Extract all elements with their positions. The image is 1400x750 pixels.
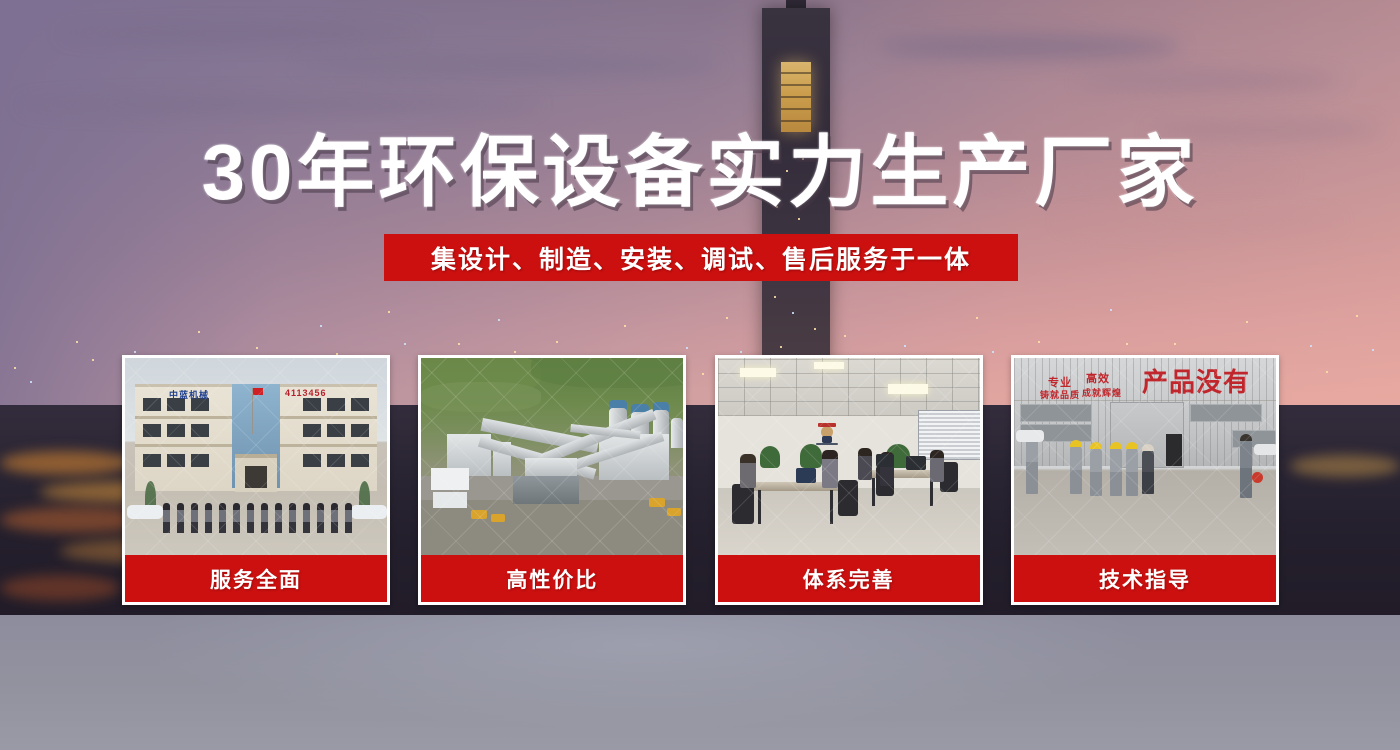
city-light-glow [1290, 455, 1400, 477]
tower-crown-light [781, 62, 811, 132]
feature-card[interactable]: 产品没有 专业 高效 铸就品质 成就辉煌 [1011, 355, 1279, 605]
city-light-glow [0, 575, 120, 601]
feature-card[interactable]: 高性价比 [418, 355, 686, 605]
subtitle-text: 集设计、制造、安装、调试、售后服务于一体 [431, 240, 971, 276]
card-caption: 体系完善 [718, 555, 980, 602]
workshop-team-photo: 产品没有 专业 高效 铸就品质 成就辉煌 [1014, 358, 1276, 555]
card-caption: 高性价比 [421, 555, 683, 602]
card-caption: 服务全面 [125, 555, 387, 602]
feature-card[interactable]: 中蓝机械 4113456 服务全面 [122, 355, 390, 605]
water-reflection [0, 600, 1400, 750]
wall-slogan-5: 成就辉煌 [1082, 386, 1122, 399]
subtitle-banner: 集设计、制造、安装、调试、售后服务于一体 [384, 234, 1018, 281]
factory-aerial-photo [421, 358, 683, 555]
page-title: 30年环保设备实力生产厂家 [0, 130, 1400, 214]
building-sign-text: 中蓝机械 [169, 388, 209, 401]
feature-card[interactable]: 体系完善 [715, 355, 983, 605]
wall-slogan-main: 产品没有 [1142, 362, 1250, 399]
office-interior-photo [718, 358, 980, 555]
promo-banner: 30年环保设备实力生产厂家 集设计、制造、安装、调试、售后服务于一体 [0, 0, 1400, 750]
wall-slogan-3: 高效 [1086, 370, 1110, 386]
city-light-glow [0, 451, 130, 475]
card-caption: 技术指导 [1014, 555, 1276, 602]
building-phone-text: 4113456 [285, 388, 327, 398]
feature-card-row: 中蓝机械 4113456 服务全面 [122, 355, 1279, 605]
company-headquarters-photo: 中蓝机械 4113456 [125, 358, 387, 555]
wall-logo-icon [810, 420, 844, 446]
